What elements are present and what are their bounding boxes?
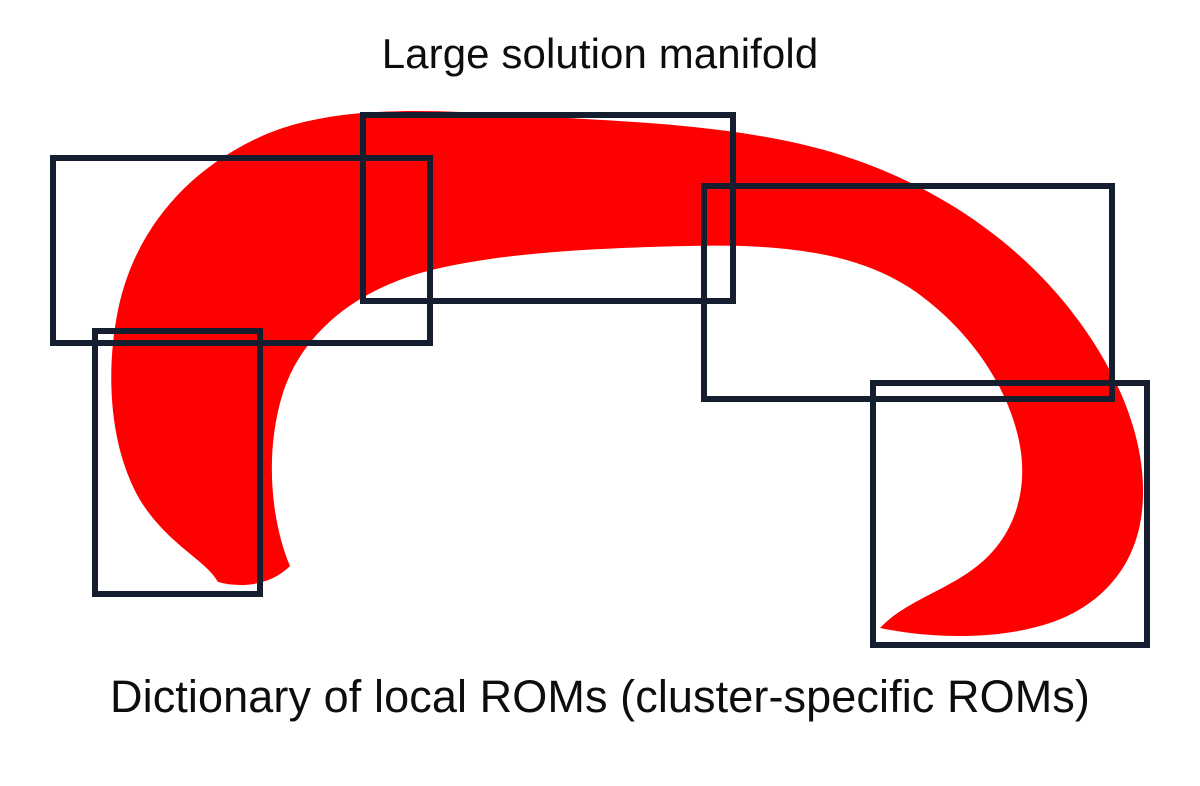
diagram-bottom-caption: Dictionary of local ROMs (cluster-specif…: [0, 668, 1200, 726]
diagram-title: Large solution manifold: [0, 28, 1200, 80]
diagram-canvas: Large solution manifold Dictionary of lo…: [0, 0, 1200, 786]
solution-manifold-shape: [111, 111, 1143, 636]
